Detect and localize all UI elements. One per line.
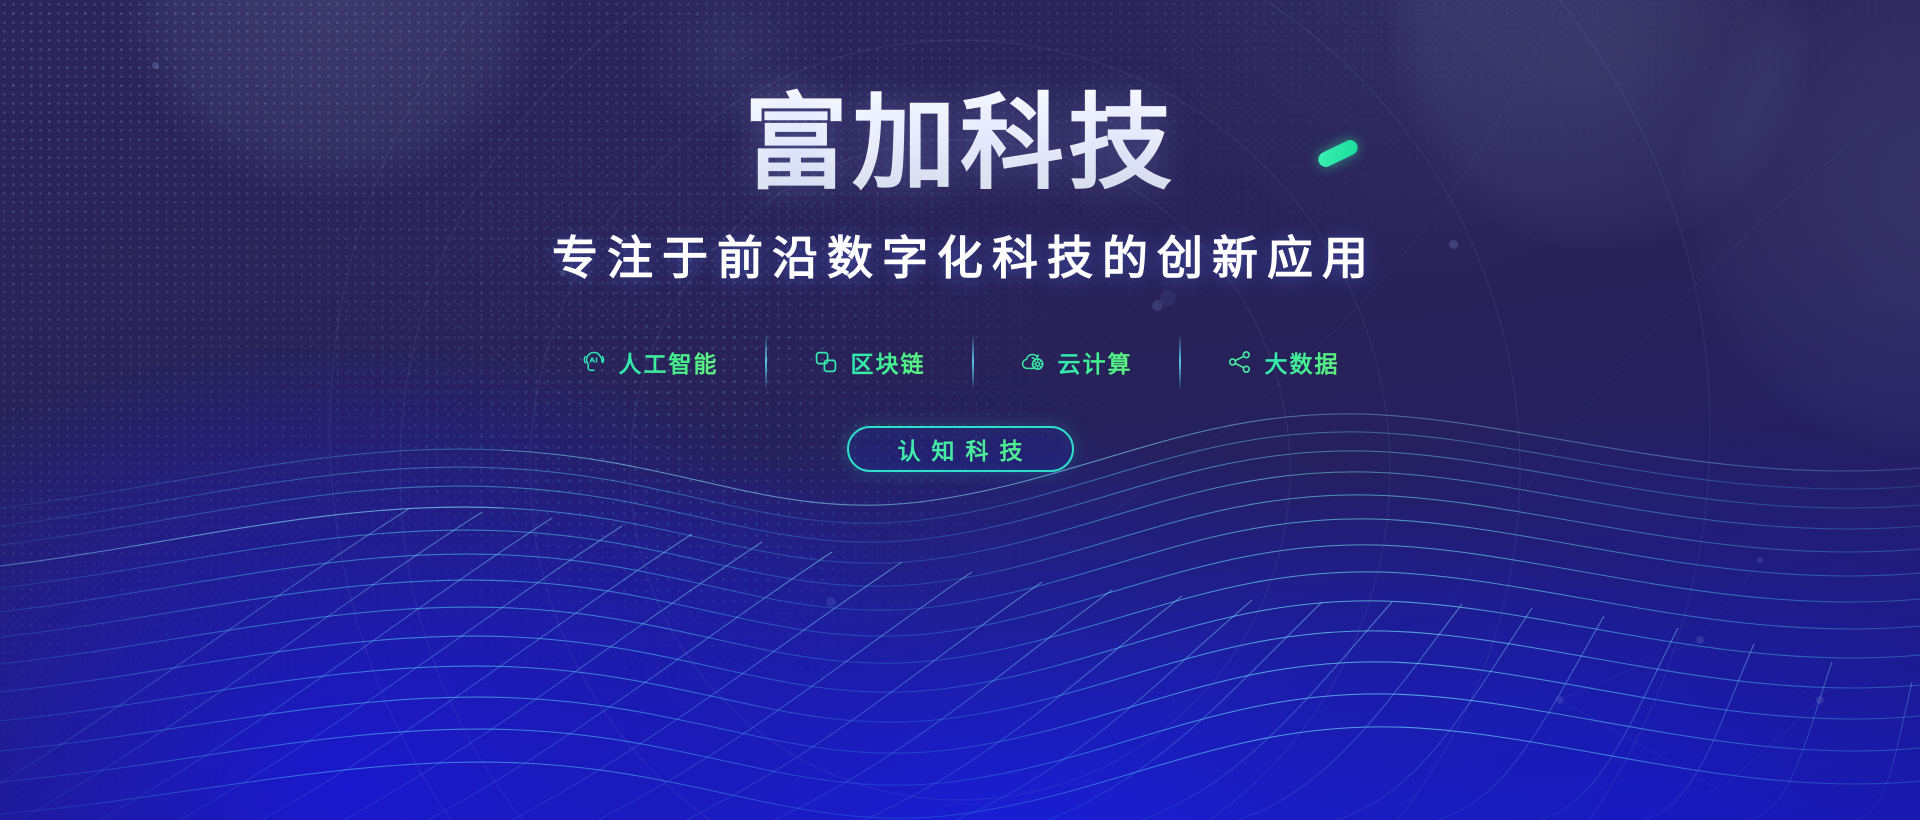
cta-button-label: 认知科技: [887, 432, 1034, 466]
share-nodes-icon: [1227, 349, 1253, 375]
blockchain-blocks-icon: [813, 349, 839, 375]
feature-tag-bigdata[interactable]: 大数据: [1181, 345, 1386, 379]
feature-tag-blockchain[interactable]: 区块链: [767, 345, 972, 379]
feature-tag-cloud[interactable]: 云计算: [974, 345, 1179, 379]
cta-button[interactable]: 认知科技: [847, 426, 1074, 472]
feature-tag-label: 人工智能: [619, 345, 719, 379]
feature-tag-ai[interactable]: AI 人工智能: [535, 345, 765, 379]
feature-tag-label: 大数据: [1265, 345, 1340, 379]
brand-logo-text: 富加科技: [744, 82, 1176, 204]
banner-content: 富加科技 专注于前沿数字化科技的创新应用 AI 人工智能: [0, 0, 1920, 820]
svg-text:AI: AI: [589, 356, 598, 365]
cloud-gear-icon: [1020, 349, 1046, 375]
ai-head-icon: AI: [581, 349, 607, 375]
banner-subtitle: 专注于前沿数字化科技的创新应用: [543, 222, 1377, 288]
accent-stroke-icon: [1316, 138, 1360, 170]
feature-tag-list: AI 人工智能 区块链: [535, 334, 1386, 390]
brand-logo: 富加科技: [744, 88, 1176, 198]
feature-tag-label: 区块链: [851, 345, 926, 379]
feature-tag-label: 云计算: [1058, 345, 1133, 379]
hero-banner: 富加科技 专注于前沿数字化科技的创新应用 AI 人工智能: [0, 0, 1920, 820]
